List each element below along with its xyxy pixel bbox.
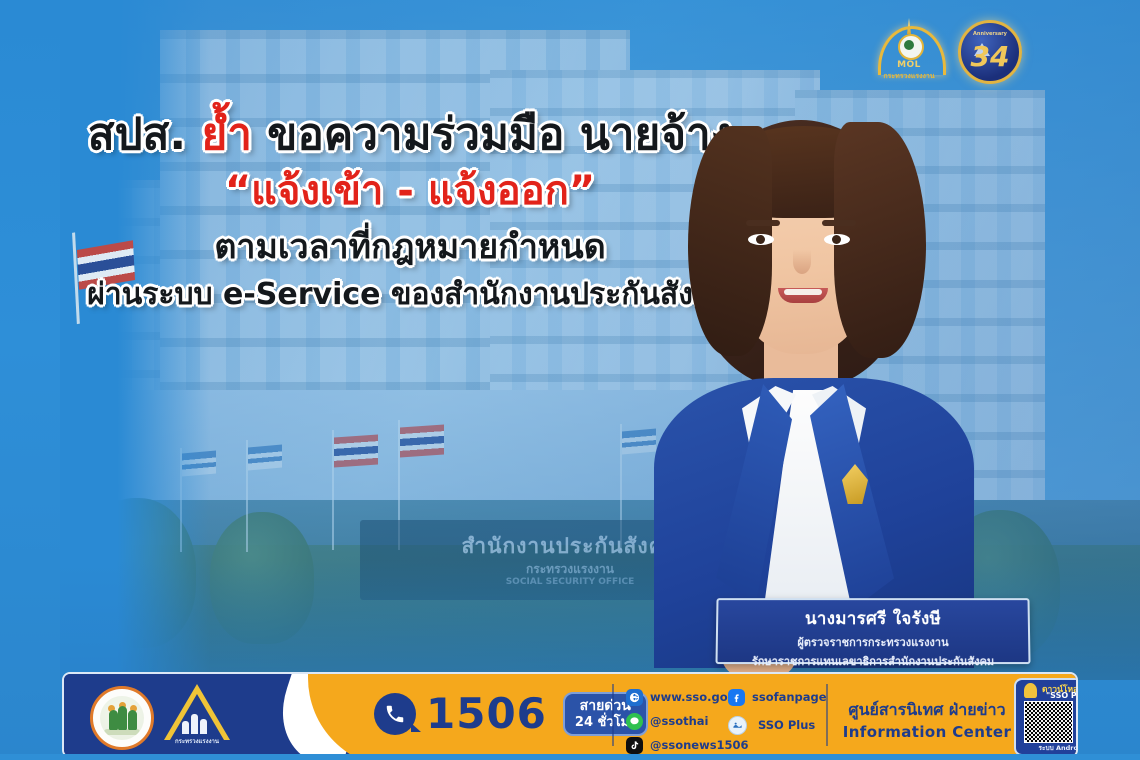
- hotline-number: 1506: [426, 693, 547, 735]
- phone-icon: [374, 693, 416, 735]
- nameplate-name: นางมารศรี ใจรังษี: [718, 605, 1028, 632]
- globe-icon: [626, 689, 643, 706]
- eye-left: [748, 234, 774, 245]
- headline-line-1-prefix: สปส.: [88, 109, 202, 160]
- bottom-strip: [0, 754, 1140, 760]
- mol-logo-caption: กระทรวงแรงงาน: [162, 736, 232, 746]
- nameplate: นางมารศรี ใจรังษี ผู้ตรวจราชการกระทรวงแร…: [715, 598, 1030, 664]
- information-center-english: Information Center: [842, 723, 1012, 741]
- social-label-ssoplus: SSO Plus: [758, 718, 815, 732]
- headline-emphasis: ย้ำ: [201, 109, 252, 160]
- qr-code-android[interactable]: [1024, 701, 1073, 743]
- social-link-facebook[interactable]: ssofanpage: [728, 686, 858, 708]
- app-name-label: "SSO Plus": [1046, 691, 1078, 700]
- eyebrow-right: [822, 220, 856, 226]
- platforms-label: ระบบ Android และ iOS: [1016, 743, 1078, 753]
- sso-seal-logo-icon: [90, 686, 154, 750]
- hotline-block[interactable]: 1506 สายด่วน 24 ชั่วโมง: [374, 692, 648, 736]
- footer-divider-right: [826, 684, 828, 746]
- sso-34th-anniversary-emblem: Anniversary 34: [958, 20, 1022, 84]
- information-center-thai: ศูนย์สารนิเทศ ฝ่ายข่าว: [842, 698, 1012, 723]
- information-center-block: ศูนย์สารนิเทศ ฝ่ายข่าว Information Cente…: [842, 698, 1012, 741]
- mol-triangle-logo-icon: กระทรวงแรงงาน: [164, 684, 230, 746]
- app-download-panel[interactable]: ดาวน์โหลด "SSO Plus" ระบบ Android และ iO…: [1014, 678, 1078, 756]
- app-download-header: ดาวน์โหลด "SSO Plus": [1016, 680, 1078, 702]
- poster-canvas: สำนักงานประกันสังคม กระทรวงแรงงาน SOCIAL…: [0, 0, 1140, 760]
- social-label-line: @ssothai: [650, 714, 708, 728]
- social-label-facebook: ssofanpage: [752, 690, 827, 704]
- eyebrow-left: [746, 220, 780, 226]
- mol-emblem: MOL กระทรวงแรงงาน: [878, 20, 940, 86]
- nose: [793, 250, 811, 274]
- tiktok-icon: [626, 737, 643, 754]
- social-label-tiktok: @ssonews1506: [650, 738, 749, 752]
- emblem-group: MOL กระทรวงแรงงาน Anniversary 34: [878, 20, 1022, 86]
- social-links-column-2: ssofanpage SSO Plus: [728, 686, 858, 738]
- qr-code-pair: [1024, 701, 1078, 743]
- anniversary-number: 34: [961, 23, 1019, 81]
- ssoplus-icon: [728, 716, 747, 735]
- mol-abbr: MOL: [878, 60, 940, 70]
- facebook-icon: [728, 689, 745, 706]
- portrait-photo: [596, 78, 1016, 668]
- nameplate-acting-role: รักษาราชการแทนเลขาธิการสำนักงานประกันสัง…: [717, 652, 1028, 670]
- footer-divider-left: [612, 684, 614, 746]
- bell-icon: [1024, 683, 1037, 698]
- eye-right: [824, 234, 850, 245]
- line-icon: [626, 713, 643, 730]
- nameplate-position: ผู้ตรวจราชการกระทรวงแรงงาน: [718, 633, 1029, 651]
- footer-bar: กระทรวงแรงงาน 1506 สายด่วน 24 ชั่วโมง ww…: [62, 672, 1078, 758]
- social-link-ssoplus[interactable]: SSO Plus: [728, 714, 858, 736]
- mouth: [778, 288, 828, 303]
